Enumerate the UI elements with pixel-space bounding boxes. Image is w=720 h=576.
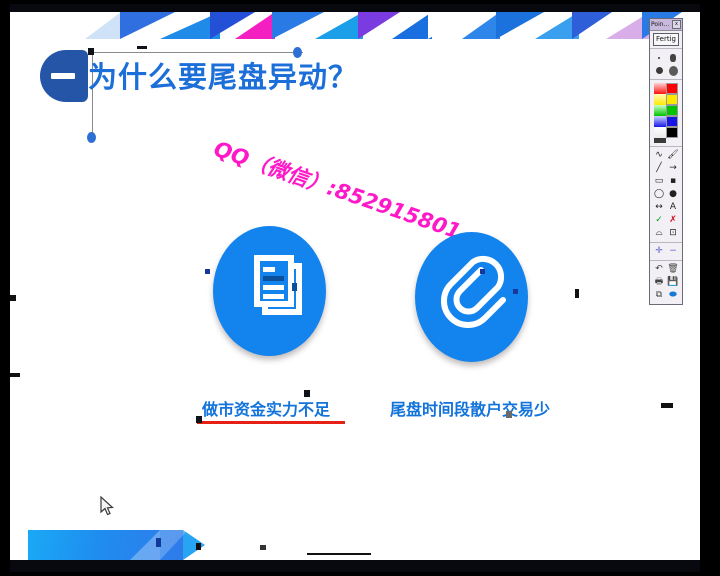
pen-size-m-button[interactable]: [652, 64, 666, 77]
color-empty-slot[interactable]: [666, 138, 678, 143]
color-blue-solid[interactable]: [666, 116, 678, 127]
line-icon[interactable]: ╱: [652, 162, 666, 175]
actions-section[interactable]: ↶🗑🖶💾⧉⬬: [650, 260, 682, 304]
stray-mark-e: [10, 295, 16, 301]
info-icon[interactable]: ⬬: [666, 289, 680, 302]
badge-dash-glyph: [51, 73, 75, 79]
presentation-slide: 为什么要尾盘异动？ QQ（微信）:852915801 做市资金实力不足: [10, 4, 700, 572]
stray-mark-b: [480, 269, 485, 274]
page-title: 为什么要尾盘异动？: [88, 54, 358, 96]
feature-caption-2: 尾盘时间段散户交易少: [390, 396, 550, 420]
color-green-gradient[interactable]: [654, 105, 666, 116]
bottom-decorative-banner: [10, 520, 700, 572]
mouse-cursor: [100, 496, 115, 517]
check-mark-icon[interactable]: ✓: [652, 214, 666, 227]
drawing-tools-section[interactable]: ∿🖌╱→▭▪◯●↔A✓✗⌓⊡: [650, 146, 682, 242]
toolbar-title-bar[interactable]: Poin... x: [650, 19, 682, 31]
ellipse-outline-icon[interactable]: ◯: [652, 188, 666, 201]
resize-arrows-icon[interactable]: ↔: [652, 201, 666, 214]
selection-guide-horizontal: [92, 52, 303, 53]
color-black-solid[interactable]: [666, 127, 678, 138]
annotation-handle-right[interactable]: [506, 411, 512, 418]
banner-bottom-black-strip: [10, 560, 700, 572]
color-blue-gradient[interactable]: [654, 116, 666, 127]
annotation-handle-left[interactable]: [196, 416, 202, 423]
print-icon[interactable]: 🖶: [652, 276, 666, 289]
pen-size-section[interactable]: [650, 48, 682, 79]
pen-size-xs-button[interactable]: [652, 51, 666, 64]
feature-caption-1: 做市资金实力不足: [202, 396, 330, 420]
undo-icon[interactable]: ↶: [652, 263, 666, 276]
title-number-badge: [40, 50, 88, 102]
zoom-tools-section[interactable]: ✛−: [650, 242, 682, 260]
zoom-in-icon[interactable]: ✛: [652, 245, 666, 258]
selection-handle-bottom[interactable]: [87, 132, 96, 143]
zoom-region-icon[interactable]: ⊡: [666, 227, 680, 240]
done-button[interactable]: Fertig: [653, 33, 679, 46]
pen-size-s-button[interactable]: [666, 51, 680, 64]
delete-icon[interactable]: 🗑: [666, 263, 680, 276]
cross-mark-icon[interactable]: ✗: [666, 214, 680, 227]
color-red-gradient[interactable]: [654, 83, 666, 94]
pointofix-toolbar[interactable]: Poin... x Fertig: [649, 18, 683, 305]
zoom-out-icon[interactable]: −: [666, 245, 680, 258]
rectangle-outline-icon[interactable]: ▭: [652, 175, 666, 188]
toolbar-drag-handle[interactable]: [661, 403, 673, 408]
text-tool-icon[interactable]: A: [666, 201, 680, 214]
color-yellow-solid[interactable]: [666, 94, 678, 105]
rectangle-filled-icon[interactable]: ▪: [666, 175, 680, 188]
color-red-solid[interactable]: [666, 83, 678, 94]
stray-mark-d: [575, 289, 579, 298]
screen: 为什么要尾盘异动？ QQ（微信）:852915801 做市资金实力不足: [0, 0, 720, 576]
color-current-indicator[interactable]: [654, 138, 666, 143]
color-palette-section[interactable]: [650, 79, 682, 146]
selection-handle-top[interactable]: [137, 46, 147, 49]
ellipse-filled-icon[interactable]: ●: [666, 188, 680, 201]
stray-mark-a: [205, 269, 210, 274]
banner-top-black-strip: [10, 4, 700, 12]
feature-circle-2[interactable]: [415, 232, 528, 362]
red-underline-annotation: [197, 421, 345, 424]
toolbar-window-title: Poin...: [651, 19, 669, 30]
paperclip-icon: [415, 232, 528, 362]
arrow-icon[interactable]: →: [666, 162, 680, 175]
annotation-handle-caption[interactable]: [304, 390, 310, 397]
highlighter-icon[interactable]: 🖌: [666, 149, 680, 162]
close-icon[interactable]: x: [672, 20, 681, 29]
pen-size-l-button[interactable]: [666, 64, 680, 77]
color-yellow-gradient[interactable]: [654, 94, 666, 105]
top-decorative-banner: [10, 4, 700, 40]
crop-icon[interactable]: ⌓: [652, 227, 666, 240]
color-green-solid[interactable]: [666, 105, 678, 116]
color-white-gradient[interactable]: [654, 127, 666, 138]
stray-mark-f: [10, 373, 20, 377]
feature-circle-1[interactable]: [213, 226, 326, 356]
stray-mark-c: [513, 289, 518, 294]
copy-icon[interactable]: ⧉: [652, 289, 666, 302]
document-copy-icon: [213, 226, 326, 356]
save-icon[interactable]: 💾: [666, 276, 680, 289]
freehand-pen-icon[interactable]: ∿: [652, 149, 666, 162]
